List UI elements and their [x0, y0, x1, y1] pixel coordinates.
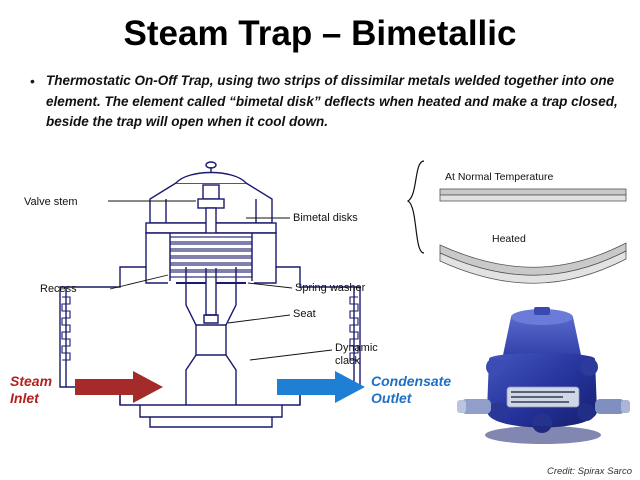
label-seat: Seat — [293, 308, 316, 321]
label-valve-stem: Valve stem — [24, 196, 78, 209]
caption-at-normal-temperature: At Normal Temperature — [445, 171, 553, 184]
condensate-line2: Outlet — [371, 390, 451, 407]
label-spring-washer: Spring washer — [295, 282, 365, 295]
steam-inlet-line1: Steam — [10, 373, 52, 390]
label-dynamic-clack-line2: clack — [335, 355, 360, 368]
steam-inlet-line2: Inlet — [10, 390, 52, 407]
steam-inlet-label: Steam Inlet — [10, 373, 52, 407]
steam-trap-photo — [455, 307, 633, 459]
bullet-text: Thermostatic On-Off Trap, using two stri… — [46, 71, 618, 133]
label-dynamic-clack-line1: Dynamic — [335, 342, 378, 355]
caption-heated: Heated — [492, 233, 526, 246]
page-title: Steam Trap – Bimetallic — [0, 14, 640, 54]
steam-trap-diagram: Valve stem Recess Bimetal disks Spring w… — [0, 155, 640, 480]
credit-text: Credit: Spirax Sarco — [547, 466, 632, 477]
bullet-marker: • — [30, 71, 46, 91]
label-bimetal-disks: Bimetal disks — [293, 212, 358, 225]
bullet-paragraph: • Thermostatic On-Off Trap, using two st… — [30, 71, 618, 133]
condensate-outlet-label: Condensate Outlet — [371, 373, 451, 407]
label-recess: Recess — [40, 283, 77, 296]
steam-inlet-arrow — [75, 371, 165, 403]
slide-canvas: Steam Trap – Bimetallic • Thermostatic O… — [0, 0, 640, 480]
condensate-outlet-arrow — [277, 371, 367, 403]
condensate-line1: Condensate — [371, 373, 451, 390]
